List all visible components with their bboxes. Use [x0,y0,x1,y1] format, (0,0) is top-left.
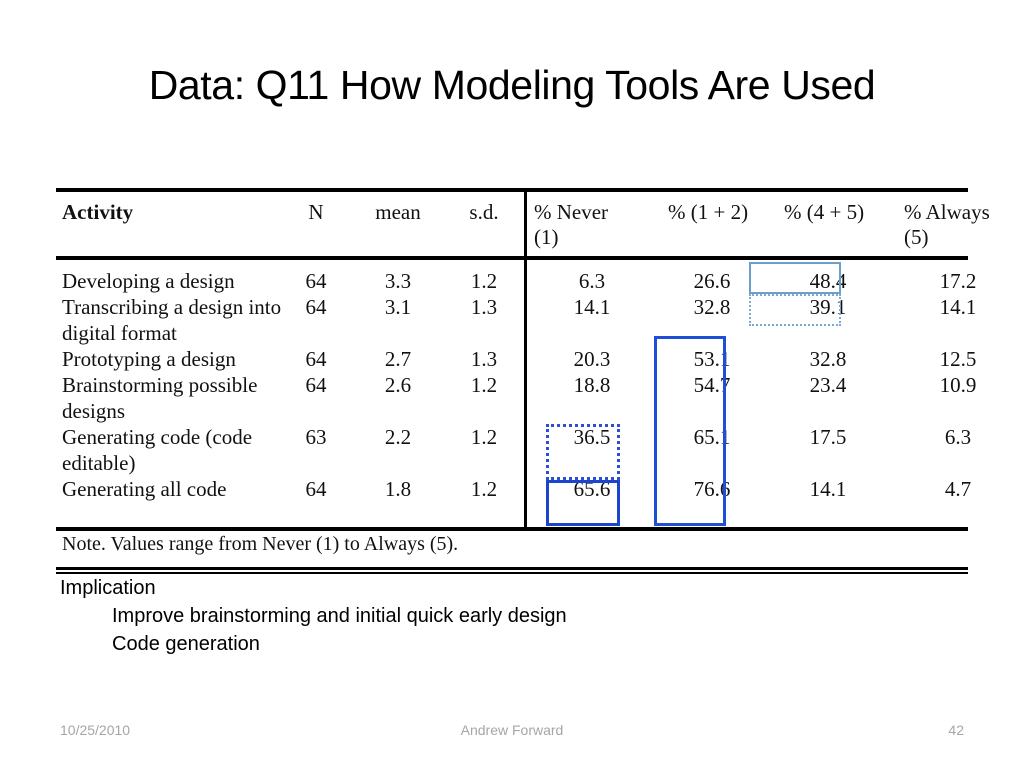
table-cell-low: 54.7 [654,372,770,398]
table-row: Transcribing a design into digital forma… [62,294,294,346]
table-cell-never: 14.1 [534,294,650,320]
table-row: Developing a design [62,268,294,294]
implication-block: Implication Improve brainstorming and in… [60,574,567,658]
column-header-high: % (4 + 5) [784,200,902,225]
column-header-n: N [292,200,340,225]
table-cell-low: 32.8 [654,294,770,320]
table-cell-sd: 1.3 [454,346,514,372]
table-cell-n: 64 [292,372,340,398]
table-cell-sd: 1.2 [454,424,514,450]
table-cell-n: 64 [292,476,340,502]
table-cell-n: 64 [292,294,340,320]
table-cell-always: 10.9 [896,372,1020,398]
table-cell-n: 64 [292,268,340,294]
table-note-rule [56,567,968,570]
table-cell-low: 53.1 [654,346,770,372]
column-header-sd: s.d. [454,200,514,225]
implication-heading: Implication [60,574,567,602]
slide: Data: Q11 How Modeling Tools Are Used Ac… [0,0,1024,768]
table-note: Note. Values range from Never (1) to Alw… [62,533,458,556]
table-cell-always: 4.7 [896,476,1020,502]
table-cell-high: 48.4 [770,268,886,294]
table-cell-high: 39.1 [770,294,886,320]
page-title: Data: Q11 How Modeling Tools Are Used [0,62,1024,109]
table-cell-never: 6.3 [534,268,650,294]
table-cell-mean: 3.3 [356,268,440,294]
table-cell-n: 63 [292,424,340,450]
table-row: Generating code (code editable) [62,424,294,476]
table-cell-always: 6.3 [896,424,1020,450]
footer-page-number: 42 [894,722,1024,738]
column-header-mean: mean [356,200,440,225]
table-header-rule [56,256,968,260]
table-cell-mean: 3.1 [356,294,440,320]
table-cell-always: 17.2 [896,268,1020,294]
table-cell-low: 65.1 [654,424,770,450]
table-cell-sd: 1.2 [454,476,514,502]
table-cell-n: 64 [292,346,340,372]
statistics-table: Activity N mean s.d. % Never (1) % (1 + … [56,188,968,566]
table-body-rule [56,527,968,531]
table-cell-sd: 1.2 [454,372,514,398]
table-cell-mean: 2.6 [356,372,440,398]
slide-footer: 10/25/2010 Andrew Forward 42 [0,722,1024,746]
table-top-rule [56,188,968,192]
table-row: Generating all code [62,476,294,502]
table-cell-never: 65.6 [534,476,650,502]
table-cell-high: 23.4 [770,372,886,398]
table-row: Prototyping a design [62,346,294,372]
implication-point-2: Code generation [112,630,567,658]
footer-author: Andrew Forward [0,722,1024,738]
table-cell-high: 14.1 [770,476,886,502]
column-header-always: % Always (5) [904,200,1020,250]
table-cell-mean: 1.8 [356,476,440,502]
column-header-activity: Activity [62,200,133,225]
table-cell-low: 26.6 [654,268,770,294]
table-row: Brainstorming possible designs [62,372,294,424]
table-cell-sd: 1.3 [454,294,514,320]
table-cell-mean: 2.7 [356,346,440,372]
table-cell-never: 18.8 [534,372,650,398]
column-header-never: % Never (1) [534,200,656,250]
table-cell-sd: 1.2 [454,268,514,294]
table-cell-never: 36.5 [534,424,650,450]
table-cell-mean: 2.2 [356,424,440,450]
table-cell-high: 17.5 [770,424,886,450]
table-cell-low: 76.6 [654,476,770,502]
table-cell-always: 12.5 [896,346,1020,372]
table-vertical-divider [524,192,527,527]
column-header-low: % (1 + 2) [668,200,788,225]
table-cell-always: 14.1 [896,294,1020,320]
table-cell-high: 32.8 [770,346,886,372]
table-cell-never: 20.3 [534,346,650,372]
implication-point-1: Improve brainstorming and initial quick … [112,602,567,630]
